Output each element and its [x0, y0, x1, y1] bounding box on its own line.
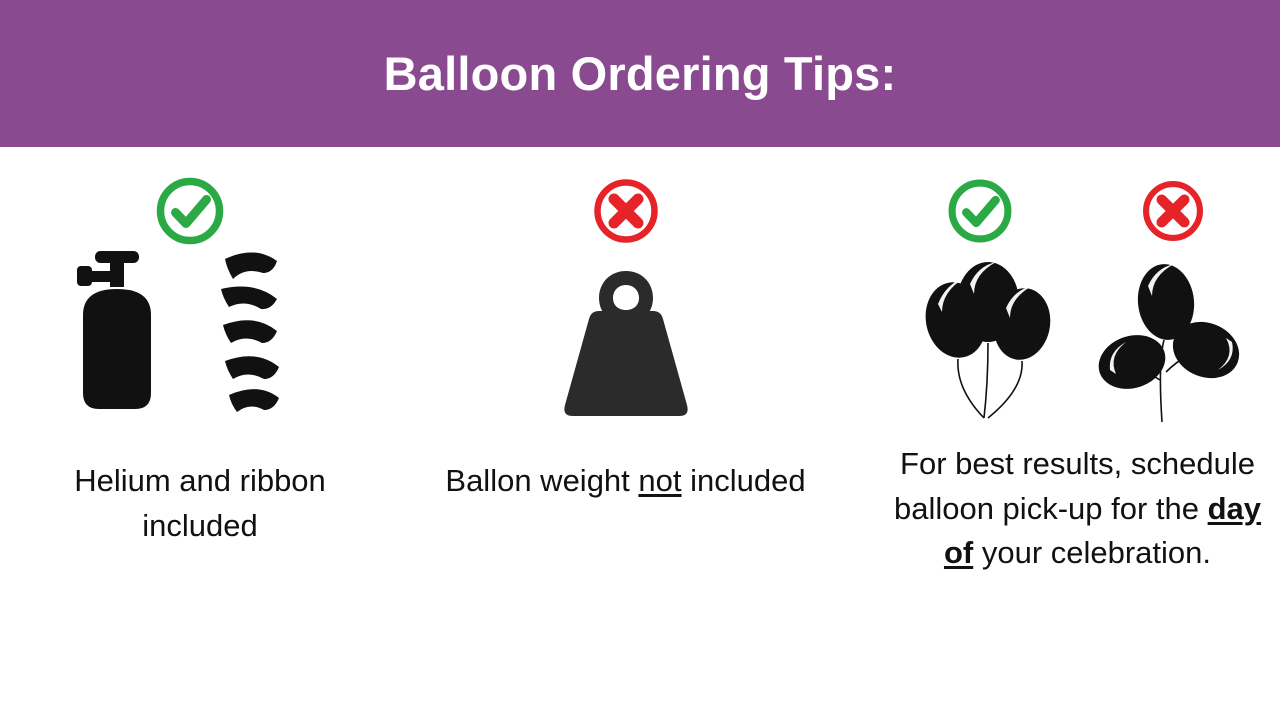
- art-row: [0, 235, 378, 425]
- tip-column-pickup-day-of: For best results, schedule balloon pick-…: [855, 147, 1280, 720]
- caption-part-2: included: [682, 463, 806, 498]
- badge-row: [398, 147, 853, 217]
- curly-ribbon-icon: [209, 245, 287, 425]
- art-row: [865, 235, 1280, 430]
- caption-part-1: For best results, schedule balloon pick-…: [894, 446, 1255, 526]
- slide: Balloon Ordering Tips:: [0, 0, 1280, 720]
- balloon-weight-icon: [541, 265, 711, 425]
- deflated-balloons-icon: [1096, 258, 1244, 430]
- badge-row: [0, 147, 390, 217]
- badge-row: [863, 147, 1280, 217]
- caption-text: Helium and ribbon included: [74, 463, 326, 543]
- helium-tank-icon: [69, 249, 169, 425]
- caption-part-2: your celebration.: [973, 535, 1211, 570]
- tip-caption: Ballon weight not included: [398, 459, 853, 504]
- art-row: [398, 235, 853, 425]
- tip-caption: For best results, schedule balloon pick-…: [865, 442, 1280, 576]
- tip-column-balloon-weight: Ballon weight not included: [400, 147, 855, 720]
- caption-part-1: Ballon weight: [445, 463, 638, 498]
- page-title: Balloon Ordering Tips:: [384, 50, 897, 97]
- header-band: Balloon Ordering Tips:: [0, 0, 1280, 147]
- floating-balloons-icon: [912, 258, 1052, 430]
- tip-caption: Helium and ribbon included: [0, 459, 400, 548]
- caption-emphasis-not: not: [638, 463, 681, 498]
- tip-column-helium-and-ribbon: Helium and ribbon included: [0, 147, 400, 720]
- tips-columns: Helium and ribbon included: [0, 147, 1280, 720]
